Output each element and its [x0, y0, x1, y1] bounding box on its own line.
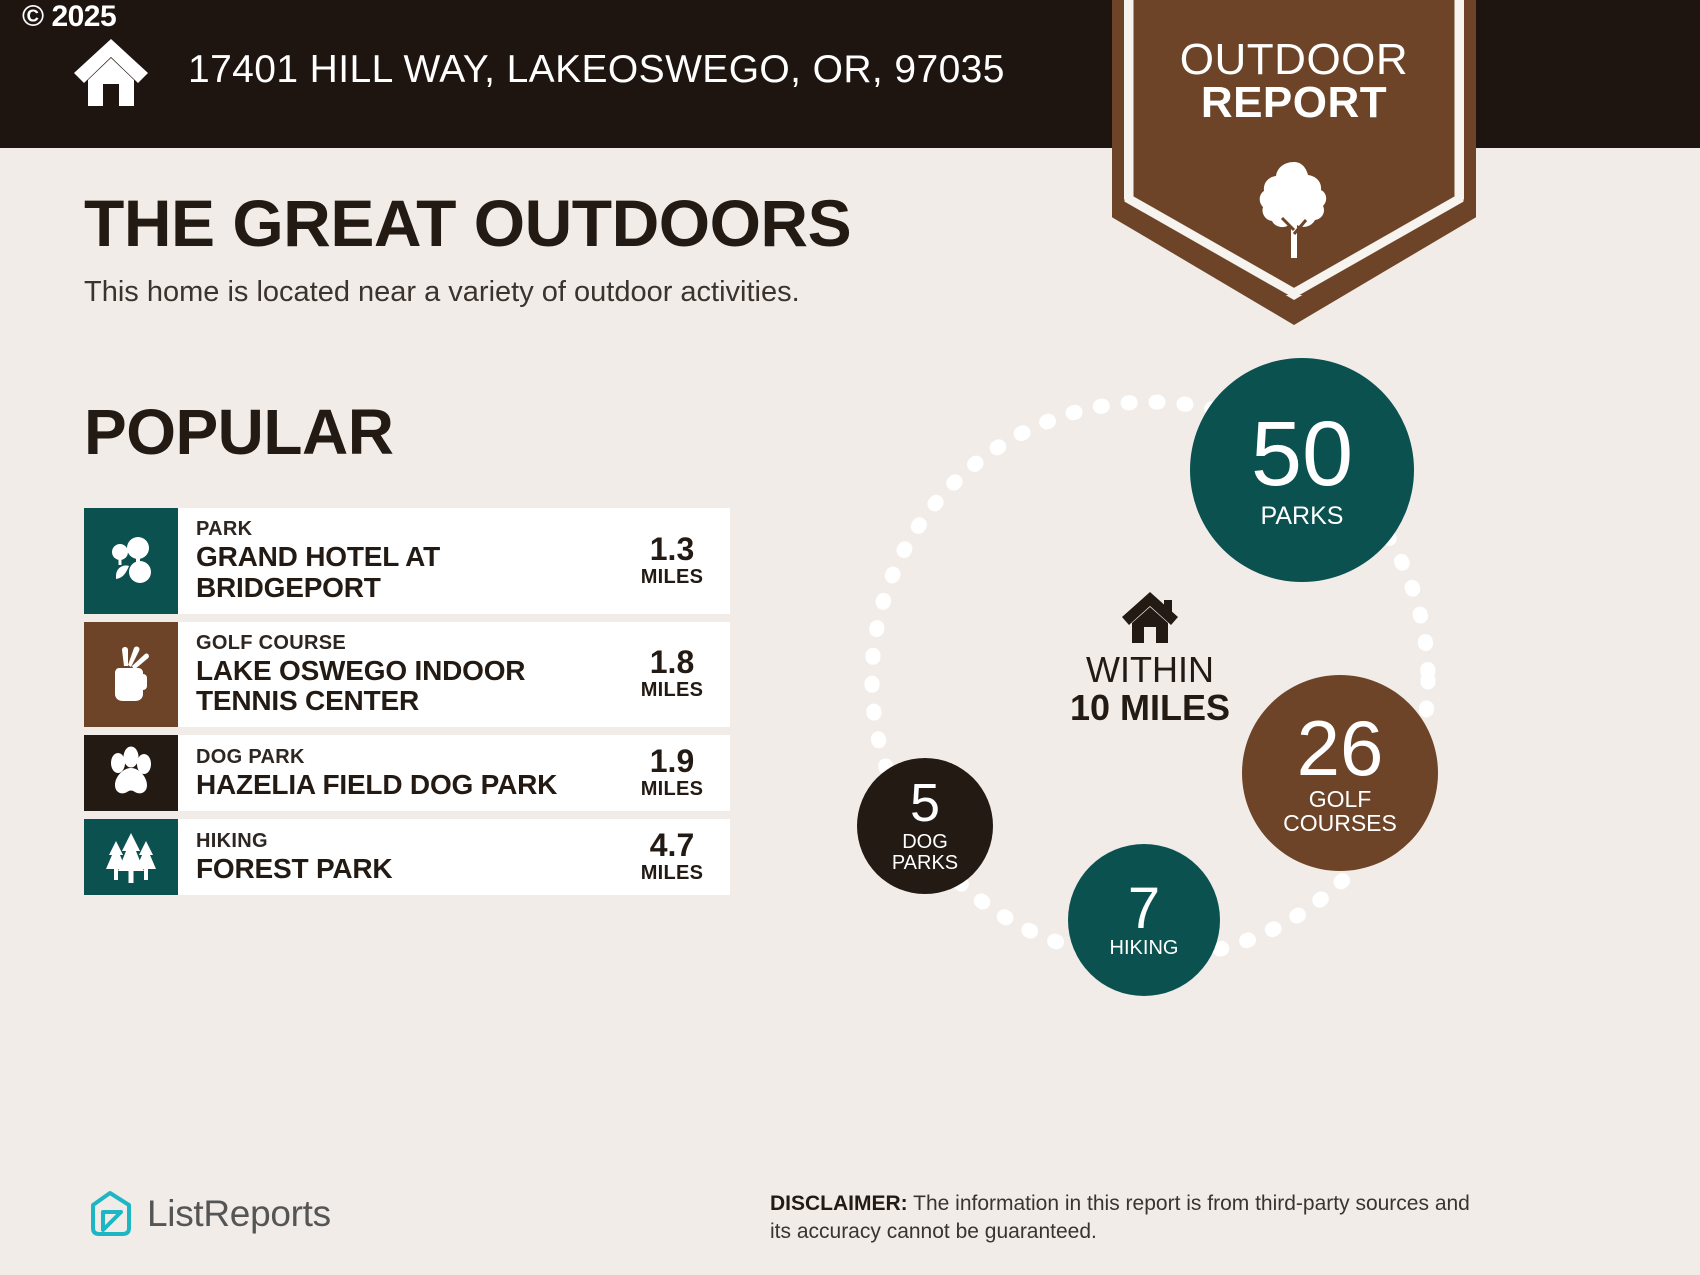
distance-unit: MILES	[624, 565, 720, 589]
badge-title-line2: REPORT	[1112, 81, 1476, 124]
distance-value: 1.8	[624, 646, 720, 678]
bubble-value: 7	[1128, 881, 1160, 936]
listreports-logo-text: ListReports	[147, 1193, 331, 1235]
chart-center-label: WITHIN 10 MILES	[1015, 590, 1285, 727]
list-item-category: PARK	[196, 518, 616, 541]
home-icon	[70, 36, 152, 108]
listreports-logo[interactable]: ListReports	[88, 1190, 331, 1238]
disclaimer: DISCLAIMER: The information in this repo…	[770, 1190, 1490, 1245]
outdoor-report-page: © 2025 17401 HILL WAY, LAKEOSWEGO, OR, 9…	[0, 0, 1700, 1275]
distance-value: 4.7	[624, 829, 720, 861]
golf-bag-icon	[84, 622, 178, 728]
center-label-line2: 10 MILES	[1015, 689, 1285, 727]
list-item-name: LAKE OSWEGO INDOOR TENNIS CENTER	[196, 656, 616, 718]
bubble-parks: 50 PARKS	[1190, 358, 1414, 582]
bubble-label: GOLF COURSES	[1283, 787, 1397, 835]
list-item[interactable]: GOLF COURSE LAKE OSWEGO INDOOR TENNIS CE…	[84, 622, 730, 728]
list-item[interactable]: HIKING FOREST PARK 4.7 MILES	[84, 819, 730, 895]
list-item-name: GRAND HOTEL AT BRIDGEPORT	[196, 542, 616, 604]
bubble-value: 5	[910, 778, 940, 829]
distance-unit: MILES	[624, 861, 720, 885]
list-item-distance: 4.7 MILES	[624, 829, 730, 885]
list-item-category: DOG PARK	[196, 746, 616, 769]
park-trees-icon	[84, 508, 178, 614]
copyright-label: © 2025	[22, 2, 116, 32]
distance-value: 1.9	[624, 745, 720, 777]
list-item[interactable]: PARK GRAND HOTEL AT BRIDGEPORT 1.3 MILES	[84, 508, 730, 614]
page-title: THE GREAT OUTDOORS	[84, 190, 851, 256]
paw-print-icon	[84, 735, 178, 811]
center-label-line1: WITHIN	[1015, 651, 1285, 689]
bubble-label: DOG PARKS	[892, 832, 958, 874]
list-item[interactable]: DOG PARK HAZELIA FIELD DOG PARK 1.9 MILE…	[84, 735, 730, 811]
listreports-house-icon	[88, 1190, 134, 1238]
list-item-distance: 1.9 MILES	[624, 745, 730, 801]
pine-trees-icon	[84, 819, 178, 895]
popular-list: PARK GRAND HOTEL AT BRIDGEPORT 1.3 MILES	[84, 508, 730, 903]
bubble-label: HIKING	[1110, 938, 1179, 959]
home-icon	[1119, 590, 1181, 645]
bubble-dog-parks: 5 DOG PARKS	[857, 758, 993, 894]
list-item-category: GOLF COURSE	[196, 632, 616, 655]
list-item-distance: 1.8 MILES	[624, 646, 730, 702]
distance-unit: MILES	[624, 678, 720, 702]
tree-icon	[1258, 160, 1330, 260]
distance-value: 1.3	[624, 533, 720, 565]
badge-title: OUTDOOR REPORT	[1112, 38, 1476, 124]
bubble-value: 26	[1297, 711, 1384, 785]
distance-unit: MILES	[624, 777, 720, 801]
popular-heading: POPULAR	[84, 400, 393, 464]
bubble-label: PARKS	[1261, 503, 1344, 529]
bubble-hiking: 7 HIKING	[1068, 844, 1220, 996]
bubble-value: 50	[1251, 411, 1353, 498]
property-address: 17401 HILL WAY, LAKEOSWEGO, OR, 97035	[188, 48, 1005, 92]
list-item-name: HAZELIA FIELD DOG PARK	[196, 770, 616, 801]
list-item-name: FOREST PARK	[196, 854, 616, 885]
list-item-distance: 1.3 MILES	[624, 533, 730, 589]
list-item-category: HIKING	[196, 830, 616, 853]
badge-title-line1: OUTDOOR	[1112, 38, 1476, 81]
page-subtitle: This home is located near a variety of o…	[84, 276, 800, 309]
within-10-miles-chart: 50 PARKS 26 GOLF COURSES 5 DOG PARKS 7 H…	[830, 350, 1470, 1010]
disclaimer-label: DISCLAIMER:	[770, 1192, 908, 1215]
